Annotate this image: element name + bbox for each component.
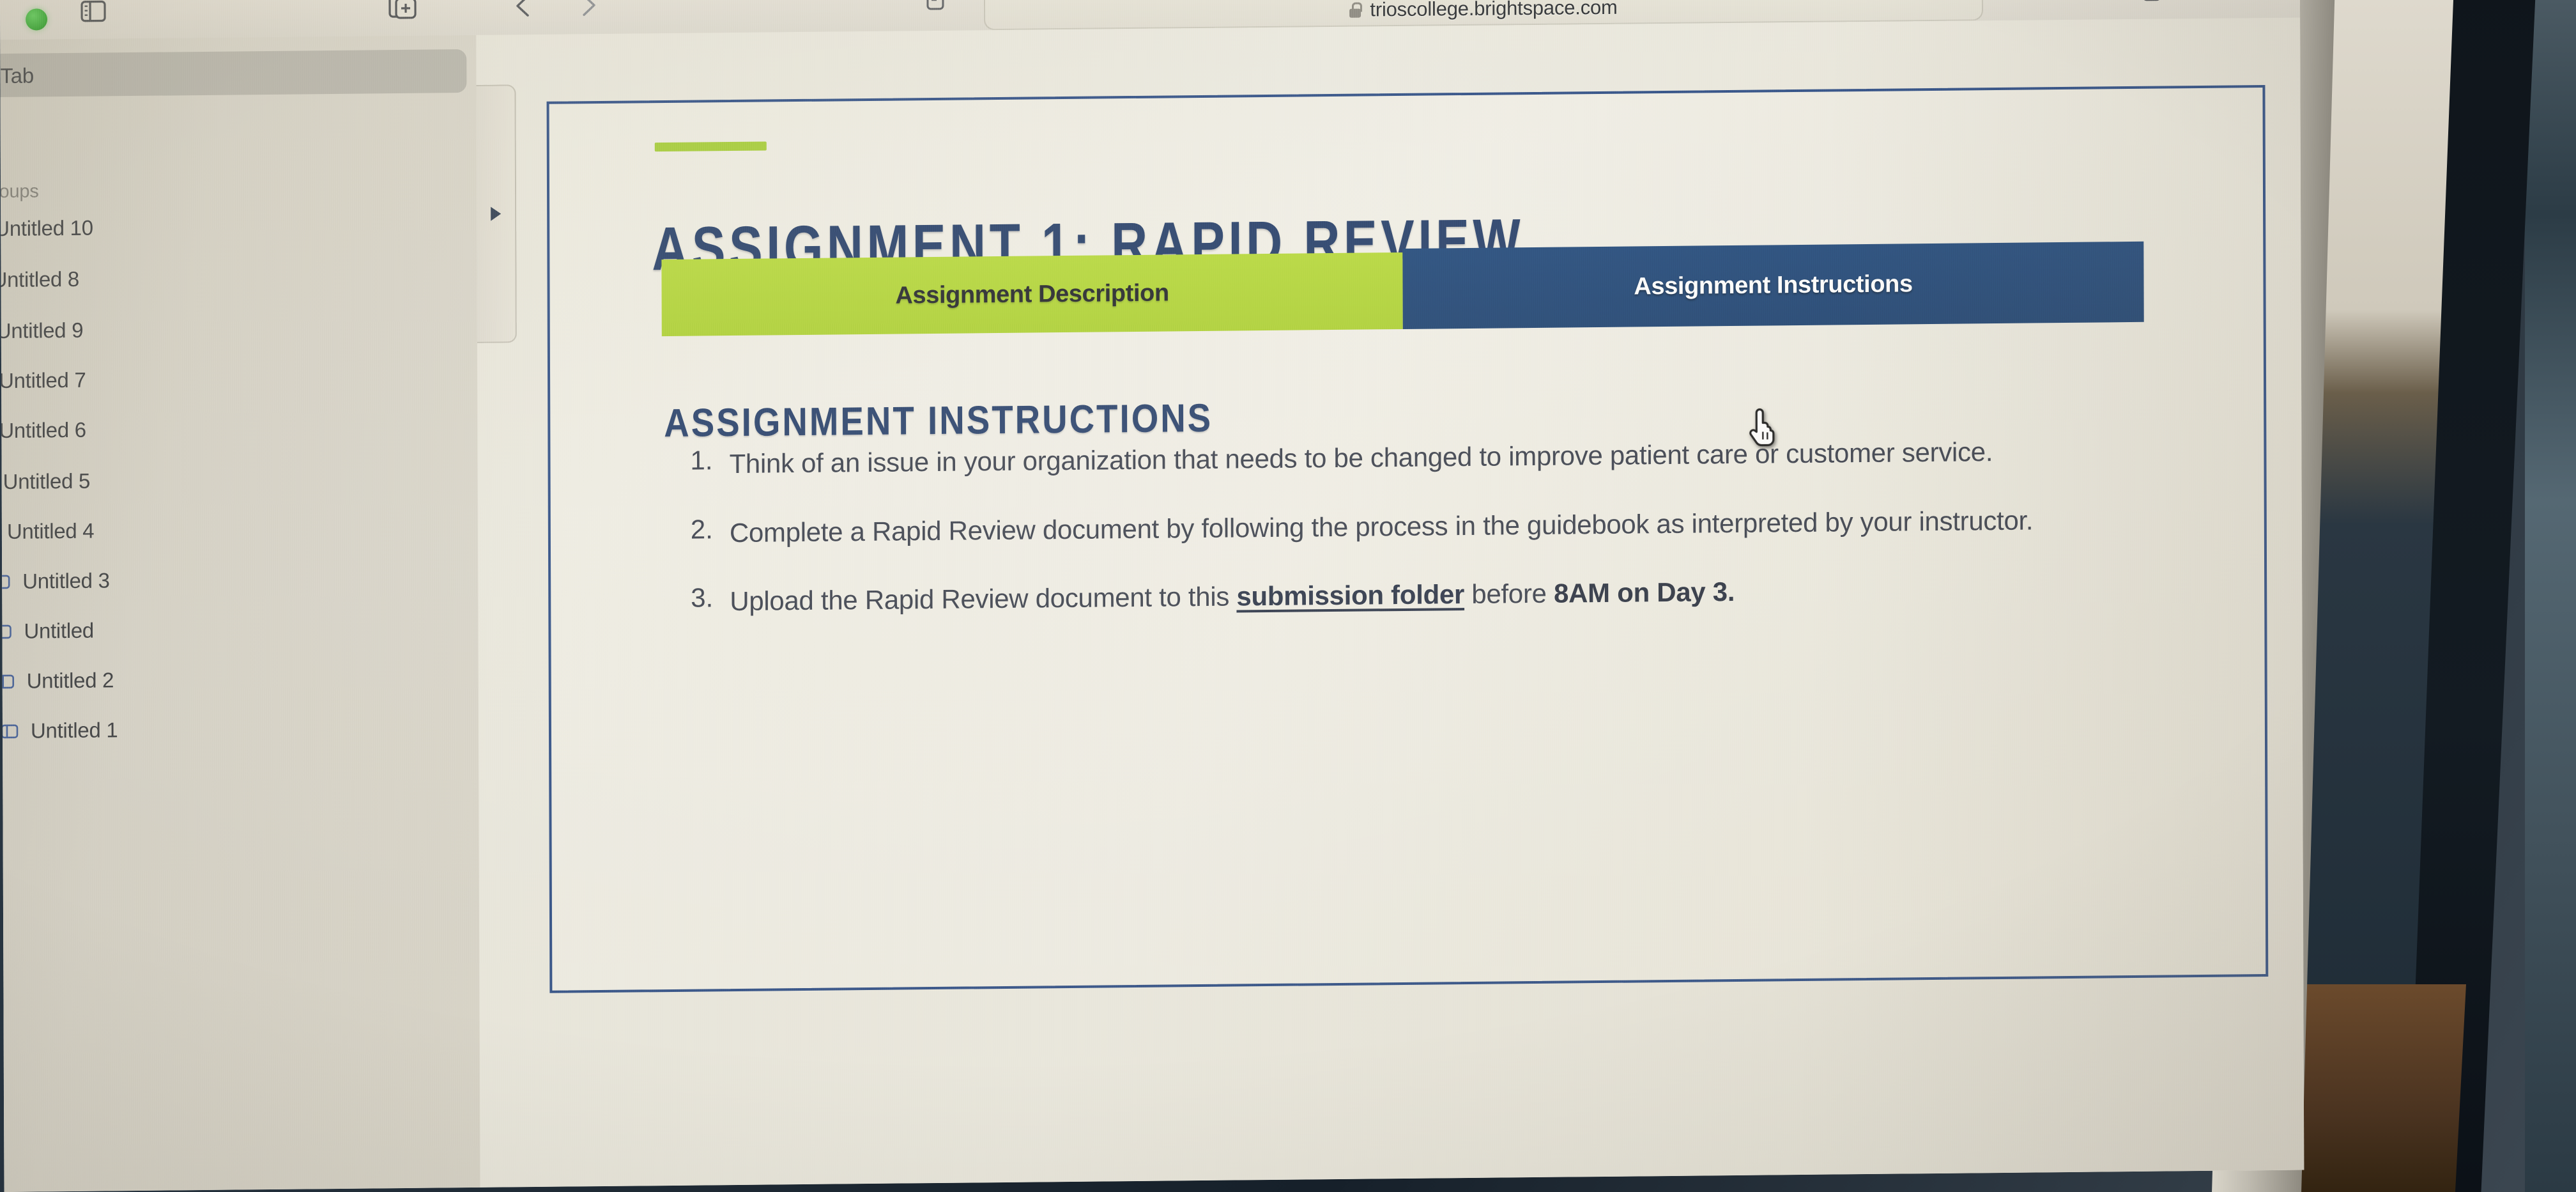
- share-icon[interactable]: [2133, 0, 2171, 8]
- sidebar-item-label: Untitled 1: [31, 718, 118, 743]
- sidebar-item-untitled-5[interactable]: Untitled 5: [3, 466, 91, 497]
- downloads-icon[interactable]: [2076, 0, 2115, 8]
- sidebar-item-label: Untitled 3: [22, 568, 110, 593]
- browser-sidebar: Tab roups Untitled 10 Untitled 8 Untitle…: [0, 35, 480, 1192]
- section-heading: ASSIGNMENT INSTRUCTIONS: [664, 396, 1213, 446]
- sidebar-item-label: Untitled 6: [0, 418, 86, 443]
- list-item-text-lead: Upload the Rapid Review document to this: [730, 582, 1236, 617]
- tab-assignment-instructions[interactable]: Assignment Instructions: [1402, 242, 2143, 329]
- sidebar-item-label: Untitled 8: [0, 267, 79, 292]
- content-tabs: Assignment Description Assignment Instru…: [661, 245, 2143, 336]
- toolbar-right-group: [2076, 0, 2287, 8]
- sidebar-section-tab-groups: roups: [0, 181, 39, 203]
- window-maximize-button[interactable]: [26, 8, 47, 30]
- sidebar-item-untitled-8[interactable]: Untitled 8: [0, 264, 79, 295]
- due-time-text: 8AM on Day 3.: [1554, 577, 1735, 608]
- url-text: trioscollege.brightspace.com: [1370, 0, 1617, 21]
- tab-group-icon: [0, 723, 19, 739]
- sidebar-item-label: Untitled 2: [27, 668, 114, 693]
- tab-group-icon: [0, 623, 12, 640]
- page-content: ASSIGNMENT 1: RAPID REVIEW Assignment De…: [476, 17, 2304, 1187]
- sidebar-item-untitled-10[interactable]: Untitled 10: [0, 213, 93, 244]
- sidebar-item-untitled-2[interactable]: Untitled 2: [0, 665, 114, 697]
- submission-folder-link[interactable]: submission folder: [1236, 579, 1464, 611]
- tab-group-icon: [0, 573, 11, 590]
- tab-label: Assignment Instructions: [1634, 270, 1912, 300]
- sidebar-item-label: Untitled 5: [3, 469, 91, 494]
- sidebar-expand-handle[interactable]: [476, 84, 516, 343]
- sidebar-item-untitled-7[interactable]: Untitled 7: [0, 365, 86, 396]
- new-tab-group-icon[interactable]: [383, 0, 423, 27]
- sidebar-item-new-tab[interactable]: [0, 49, 466, 97]
- reader-view-icon[interactable]: [920, 0, 949, 22]
- room-right-wall: [2525, 0, 2576, 1192]
- sidebar-item-untitled-1[interactable]: Untitled 1: [0, 715, 118, 747]
- plus-icon[interactable]: [2189, 0, 2227, 7]
- sidebar-toggle-icon[interactable]: [74, 0, 112, 31]
- list-item-number: 3.: [685, 583, 713, 621]
- instructions-list: 1. Think of an issue in your organizatio…: [659, 431, 2218, 652]
- sidebar-item-untitled[interactable]: Untitled: [0, 615, 94, 647]
- tab-label: Assignment Description: [895, 279, 1169, 309]
- reload-icon[interactable]: [1872, 0, 1906, 8]
- forward-button[interactable]: [569, 0, 607, 25]
- tab-overview-icon[interactable]: [2245, 0, 2283, 6]
- sidebar-new-tab-label: Tab: [0, 63, 34, 88]
- tab-group-icon: [0, 673, 15, 690]
- sidebar-item-untitled-4[interactable]: Untitled 4: [7, 516, 95, 547]
- lock-icon: [1349, 3, 1361, 18]
- tab-assignment-description[interactable]: Assignment Description: [661, 252, 1402, 336]
- assignment-frame: ASSIGNMENT 1: RAPID REVIEW Assignment De…: [547, 85, 2269, 993]
- list-item-text-mid: before: [1464, 578, 1554, 609]
- sidebar-item-untitled-3[interactable]: Untitled 3: [0, 565, 110, 597]
- sidebar-item-label: Untitled 9: [0, 318, 83, 343]
- chevron-right-icon: [491, 206, 501, 221]
- list-item-text: Complete a Rapid Review document by foll…: [730, 501, 2034, 552]
- screen: trioscollege.brightspace.com: [0, 0, 2304, 1192]
- sidebar-item-untitled-6[interactable]: Untitled 6: [0, 415, 86, 446]
- sidebar-item-label: Untitled 4: [7, 519, 95, 544]
- back-button[interactable]: [505, 0, 543, 26]
- list-item-number: 2.: [685, 514, 713, 552]
- list-item-text: Upload the Rapid Review document to this…: [730, 573, 1735, 621]
- sidebar-item-label: Untitled: [24, 619, 94, 644]
- room-desk: [2288, 984, 2466, 1192]
- list-item: 2. Complete a Rapid Review document by f…: [685, 499, 2218, 552]
- list-item-number: 1.: [684, 445, 712, 483]
- list-item: 3. Upload the Rapid Review document to t…: [685, 568, 2218, 621]
- accent-bar: [655, 141, 767, 151]
- sidebar-item-label: Untitled 10: [0, 216, 93, 241]
- sidebar-item-untitled-9[interactable]: Untitled 9: [0, 315, 83, 346]
- sidebar-item-label: Untitled 7: [0, 368, 86, 393]
- photo-of-screen: trioscollege.brightspace.com: [0, 0, 2576, 1192]
